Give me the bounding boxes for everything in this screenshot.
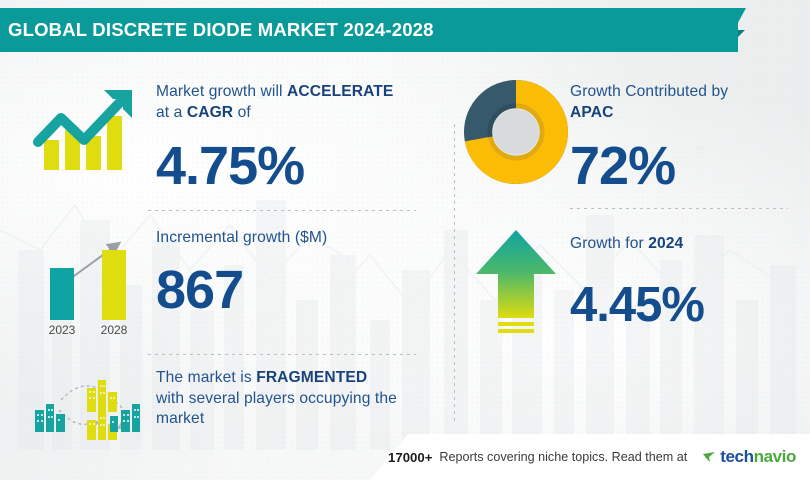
cagr-caption-mid: at a	[156, 104, 187, 121]
technavio-logo[interactable]: technavio	[702, 447, 796, 467]
two-bar-chart-icon: 2023 2028	[18, 226, 156, 336]
growth-2024-caption-pre: Growth for	[570, 235, 648, 252]
fragmentation-caption-line2: with several players occupying the	[156, 390, 397, 407]
technavio-wordmark: technavio	[720, 447, 796, 467]
fragmentation-caption: The market is FRAGMENTED with several pl…	[156, 368, 397, 430]
cagr-caption-accelerate: ACCELERATE	[287, 83, 393, 100]
stat-block-growth-2024: Growth for 2024 4.45%	[462, 226, 704, 338]
footer-text: Reports covering niche topics. Read them…	[439, 450, 687, 464]
cagr-caption-post: of	[233, 104, 251, 121]
apac-caption: Growth Contributed by APAC	[570, 82, 728, 123]
growth-arrow-bars-icon	[18, 80, 156, 176]
apac-caption-pre: Growth Contributed by	[570, 83, 728, 100]
fragmentation-caption-bold: FRAGMENTED	[256, 369, 367, 386]
right-column: Growth Contributed by APAC 72%	[462, 58, 810, 438]
column-divider	[454, 124, 455, 424]
stat-block-cagr: Market growth will ACCELERATE at a CAGR …	[18, 80, 393, 193]
incremental-growth-value: 867	[156, 263, 327, 317]
stat-block-apac: Growth Contributed by APAC 72%	[462, 80, 728, 193]
incremental-growth-text: Incremental growth ($M) 867	[156, 226, 327, 317]
footer: 17000+ Reports covering niche topics. Re…	[0, 434, 810, 480]
content-area: Market growth will ACCELERATE at a CAGR …	[0, 58, 810, 438]
growth-2024-caption-bold: 2024	[648, 235, 683, 252]
header-banner: GLOBAL DISCRETE DIODE MARKET 2024-2028	[0, 8, 738, 52]
cagr-caption-pre: Market growth will	[156, 83, 287, 100]
growth-2024-text: Growth for 2024 4.45%	[570, 226, 704, 330]
cagr-caption: Market growth will ACCELERATE at a CAGR …	[156, 82, 393, 123]
donut-chart-icon	[462, 80, 570, 184]
footer-report-count: 17000+	[388, 450, 432, 465]
stat-block-fragmentation: The market is FRAGMENTED with several pl…	[18, 366, 397, 442]
up-arrow-icon	[462, 226, 570, 338]
fragmentation-text: The market is FRAGMENTED with several pl…	[156, 366, 397, 430]
incremental-growth-caption: Incremental growth ($M)	[156, 228, 327, 249]
page-title: GLOBAL DISCRETE DIODE MARKET 2024-2028	[0, 19, 434, 41]
cagr-caption-cagr: CAGR	[187, 104, 233, 121]
stat-block-incremental-growth: 2023 2028 Incremental growth ($M) 867	[18, 226, 327, 336]
fragmentation-caption-pre: The market is	[156, 369, 256, 386]
apac-text: Growth Contributed by APAC 72%	[570, 80, 728, 193]
growth-2024-caption: Growth for 2024	[570, 228, 704, 255]
growth-2024-value: 4.45%	[570, 281, 704, 330]
technavio-logo-part2: navio	[754, 447, 796, 466]
technavio-flag-icon	[702, 449, 718, 465]
apac-value: 72%	[570, 139, 728, 193]
left-column: Market growth will ACCELERATE at a CAGR …	[8, 58, 448, 438]
connected-buildings-icon	[18, 366, 156, 442]
infographic-page: GLOBAL DISCRETE DIODE MARKET 2024-2028	[0, 0, 810, 480]
cagr-text: Market growth will ACCELERATE at a CAGR …	[156, 80, 393, 193]
technavio-logo-part1: tech	[720, 447, 753, 466]
fragmentation-caption-line3: market	[156, 410, 204, 427]
svg-text:2023: 2023	[49, 323, 76, 336]
apac-caption-bold: APAC	[570, 104, 613, 121]
svg-text:2028: 2028	[101, 323, 128, 336]
footer-content: 17000+ Reports covering niche topics. Re…	[388, 434, 800, 480]
cagr-value: 4.75%	[156, 139, 393, 193]
